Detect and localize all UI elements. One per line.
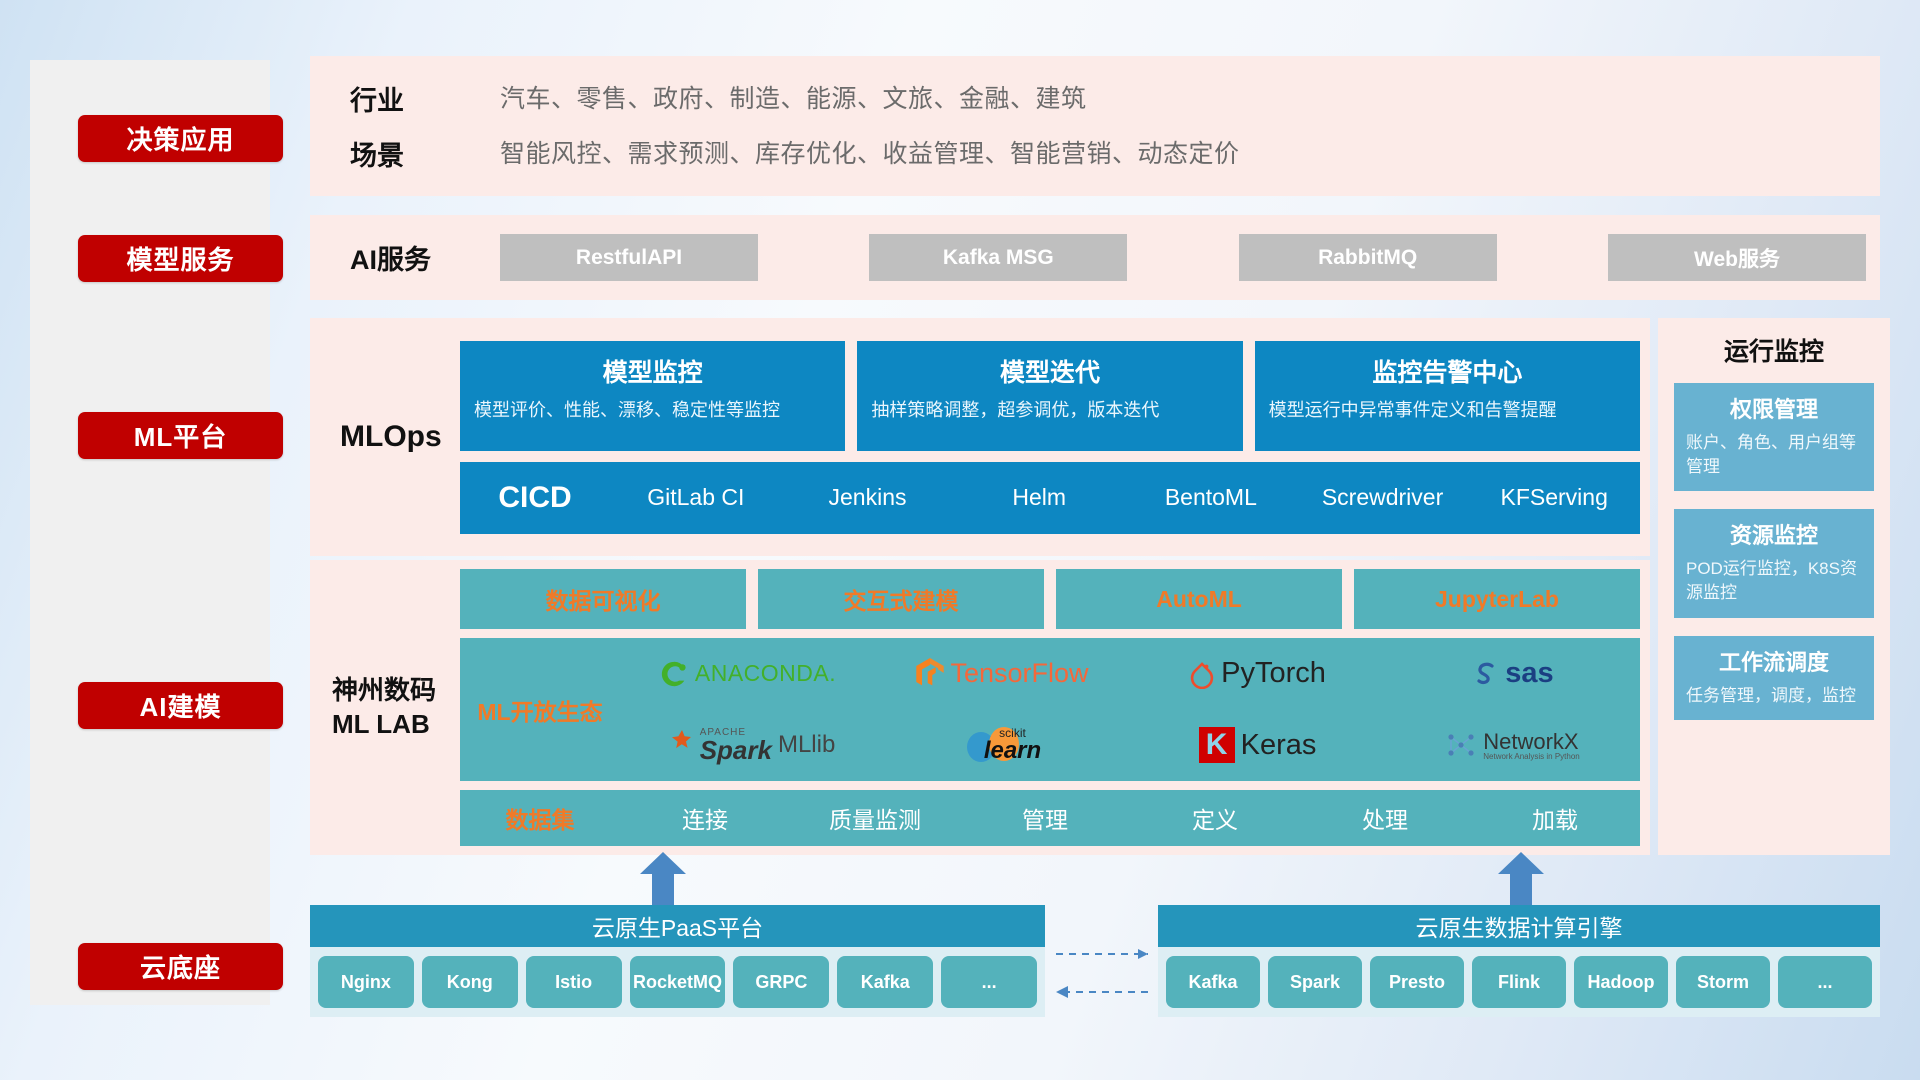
ai-service-band: AI服务 RestfulAPI Kafka MSG RabbitMQ Web服务 [310, 215, 1880, 300]
compute-chip-spark[interactable]: Spark [1268, 956, 1362, 1008]
cicd-strip: CICD GitLab CI Jenkins Helm BentoML Scre… [460, 462, 1640, 534]
card-desc: 账户、角色、用户组等管理 [1686, 431, 1862, 479]
paas-up-arrow-icon [640, 852, 686, 908]
compute-chip-more[interactable]: ... [1778, 956, 1872, 1008]
dataset-item-quality[interactable]: 质量监测 [790, 801, 960, 835]
anaconda-logo: ANACONDA. [659, 659, 836, 689]
mlops-band: MLOps 模型监控 模型评价、性能、漂移、稳定性等监控 模型迭代 抽样策略调整… [310, 318, 1650, 556]
card-title: 权限管理 [1686, 392, 1862, 424]
cloud-link-connectors [1052, 940, 1152, 1010]
runtime-monitoring-column: 运行监控 权限管理 账户、角色、用户组等管理 资源监控 POD运行监控，K8S资… [1658, 318, 1890, 855]
networkx-text: NetworkX [1483, 730, 1580, 753]
cicd-title: CICD [460, 481, 610, 515]
mlops-label: MLOps [310, 420, 460, 454]
modeling-band: 神州数码 ML LAB 数据可视化 交互式建模 AutoML JupyterLa… [310, 560, 1650, 855]
stage-chip-ml-platform[interactable]: ML平台 [78, 412, 283, 459]
pytorch-text: PyTorch [1221, 657, 1326, 690]
card-desc: 模型运行中异常事件定义和告警提醒 [1269, 398, 1626, 424]
spark-text: Spark [700, 738, 772, 763]
tensorflow-text: TensorFlow [950, 658, 1088, 689]
stage-label: AI建模 [139, 687, 221, 724]
stage-chip-decision[interactable]: 决策应用 [78, 115, 283, 162]
stage-label: 云底座 [140, 948, 221, 985]
keras-k-mark: K [1199, 727, 1235, 763]
tensorflow-logo: TensorFlow [916, 658, 1088, 690]
card-desc: 模型评价、性能、漂移、稳定性等监控 [474, 398, 831, 424]
stage-label: 决策应用 [126, 120, 234, 157]
mlops-card-model-iteration[interactable]: 模型迭代 抽样策略调整，超参调优，版本迭代 [857, 341, 1242, 451]
card-title: 工作流调度 [1686, 645, 1862, 677]
tensorflow-icon [916, 658, 944, 690]
networkx-tagline: Network Analysis in Python [1483, 753, 1580, 761]
data-compute-engine-group: 云原生数据计算引擎 Kafka Spark Presto Flink Hadoo… [1158, 905, 1880, 1017]
networkx-logo: NetworkX Network Analysis in Python [1445, 729, 1580, 761]
learn-text: learn [984, 739, 1041, 763]
tool-box-interactive[interactable]: 交互式建模 [758, 569, 1044, 629]
ai-service-label: AI服务 [350, 238, 500, 277]
card-title: 监控告警中心 [1269, 353, 1626, 389]
stage-chip-cloud-base[interactable]: 云底座 [78, 943, 283, 990]
industry-value: 汽车、零售、政府、制造、能源、文旅、金融、建筑 [500, 79, 1880, 118]
stage-chip-model-service[interactable]: 模型服务 [78, 235, 283, 282]
cicd-item-gitlab[interactable]: GitLab CI [610, 485, 782, 509]
spark-star-icon [660, 728, 694, 762]
cicd-item-bentoml[interactable]: BentoML [1125, 485, 1297, 509]
paas-chip-grpc[interactable]: GRPC [733, 956, 829, 1008]
ml-ecosystem-title: ML开放生态 [460, 693, 620, 727]
compute-chip-storm[interactable]: Storm [1676, 956, 1770, 1008]
keras-text: Keras [1241, 729, 1317, 762]
mlops-card-alert-center[interactable]: 监控告警中心 模型运行中异常事件定义和告警提醒 [1255, 341, 1640, 451]
card-desc: POD运行监控，K8S资源监控 [1686, 557, 1862, 605]
anaconda-icon [659, 659, 689, 689]
anaconda-text: ANACONDA. [695, 660, 836, 687]
scenario-value: 智能风控、需求预测、库存优化、收益管理、智能营销、动态定价 [500, 134, 1880, 173]
service-box-restful[interactable]: RestfulAPI [500, 234, 758, 281]
dataset-item-load[interactable]: 加载 [1470, 801, 1640, 835]
paas-chip-nginx[interactable]: Nginx [318, 956, 414, 1008]
monitor-card-workflow[interactable]: 工作流调度 任务管理，调度，监控 [1674, 636, 1874, 720]
industry-key: 行业 [350, 79, 500, 118]
mlops-card-model-monitor[interactable]: 模型监控 模型评价、性能、漂移、稳定性等监控 [460, 341, 845, 451]
paas-platform-title: 云原生PaaS平台 [310, 905, 1045, 947]
compute-chip-presto[interactable]: Presto [1370, 956, 1464, 1008]
spark-mllib-logo: APACHE Spark MLlib [660, 728, 836, 762]
paas-chip-more[interactable]: ... [941, 956, 1037, 1008]
data-compute-engine-title: 云原生数据计算引擎 [1158, 905, 1880, 947]
dataset-row: 数据集 连接 质量监测 管理 定义 处理 加载 [460, 790, 1640, 846]
mllib-text: MLlib [778, 731, 835, 759]
ml-lab-line1: 神州数码 [332, 674, 460, 708]
service-box-rabbitmq[interactable]: RabbitMQ [1239, 234, 1497, 281]
monitor-card-resource[interactable]: 资源监控 POD运行监控，K8S资源监控 [1674, 509, 1874, 617]
card-desc: 抽样策略调整，超参调优，版本迭代 [871, 398, 1228, 424]
paas-chip-kong[interactable]: Kong [422, 956, 518, 1008]
compute-chip-hadoop[interactable]: Hadoop [1574, 956, 1668, 1008]
card-desc: 任务管理，调度，监控 [1686, 684, 1862, 708]
scenario-key: 场景 [350, 134, 500, 173]
dataset-item-connect[interactable]: 连接 [620, 801, 790, 835]
compute-chip-kafka[interactable]: Kafka [1166, 956, 1260, 1008]
compute-up-arrow-icon [1498, 852, 1544, 908]
paas-chip-rocketmq[interactable]: RocketMQ [630, 956, 726, 1008]
cicd-item-kfserving[interactable]: KFServing [1468, 485, 1640, 509]
paas-platform-group: 云原生PaaS平台 Nginx Kong Istio RocketMQ GRPC… [310, 905, 1045, 1017]
service-box-kafka[interactable]: Kafka MSG [869, 234, 1127, 281]
service-box-web[interactable]: Web服务 [1608, 234, 1866, 281]
industry-scenario-band: 行业 汽车、零售、政府、制造、能源、文旅、金融、建筑 场景 智能风控、需求预测、… [310, 56, 1880, 196]
stage-label: 模型服务 [126, 240, 234, 277]
keras-logo: K Keras [1199, 727, 1317, 763]
compute-chip-flink[interactable]: Flink [1472, 956, 1566, 1008]
stage-rail: 决策应用 模型服务 ML平台 AI建模 云底座 [30, 60, 270, 1005]
cicd-item-jenkins[interactable]: Jenkins [782, 485, 954, 509]
scikit-learn-logo: scikit learn [964, 725, 1041, 765]
pytorch-logo: PyTorch [1189, 657, 1326, 690]
cicd-item-helm[interactable]: Helm [953, 485, 1125, 509]
sas-icon [1471, 660, 1499, 688]
cicd-item-screwdriver[interactable]: Screwdriver [1297, 485, 1469, 509]
card-title: 模型迭代 [871, 353, 1228, 389]
monitor-card-permission[interactable]: 权限管理 账户、角色、用户组等管理 [1674, 383, 1874, 491]
stage-chip-ai-modeling[interactable]: AI建模 [78, 682, 283, 729]
dataset-item-process[interactable]: 处理 [1300, 801, 1470, 835]
ml-lab-label: 神州数码 ML LAB [310, 674, 460, 742]
paas-chip-istio[interactable]: Istio [526, 956, 622, 1008]
dataset-item-manage[interactable]: 管理 [960, 801, 1130, 835]
tool-box-jupyterlab[interactable]: JupyterLab [1354, 569, 1640, 629]
tool-box-automl[interactable]: AutoML [1056, 569, 1342, 629]
ml-lab-line2: ML LAB [332, 708, 460, 742]
pytorch-icon [1189, 659, 1215, 689]
runtime-monitoring-title: 运行监控 [1674, 332, 1874, 368]
card-title: 模型监控 [474, 353, 831, 389]
sas-logo: sas [1471, 657, 1553, 690]
architecture-diagram: 决策应用 模型服务 ML平台 AI建模 云底座 行业 汽车、零售、政府、制造、能… [0, 0, 1920, 1080]
dataset-item-define[interactable]: 定义 [1130, 801, 1300, 835]
networkx-icon [1445, 729, 1477, 761]
dataset-title: 数据集 [460, 801, 620, 835]
card-title: 资源监控 [1686, 518, 1862, 550]
tool-box-visualization[interactable]: 数据可视化 [460, 569, 746, 629]
paas-chip-kafka[interactable]: Kafka [837, 956, 933, 1008]
stage-label: ML平台 [134, 417, 228, 454]
ml-ecosystem-row: ML开放生态 ANACONDA. [460, 638, 1640, 781]
sas-text: sas [1505, 657, 1553, 690]
